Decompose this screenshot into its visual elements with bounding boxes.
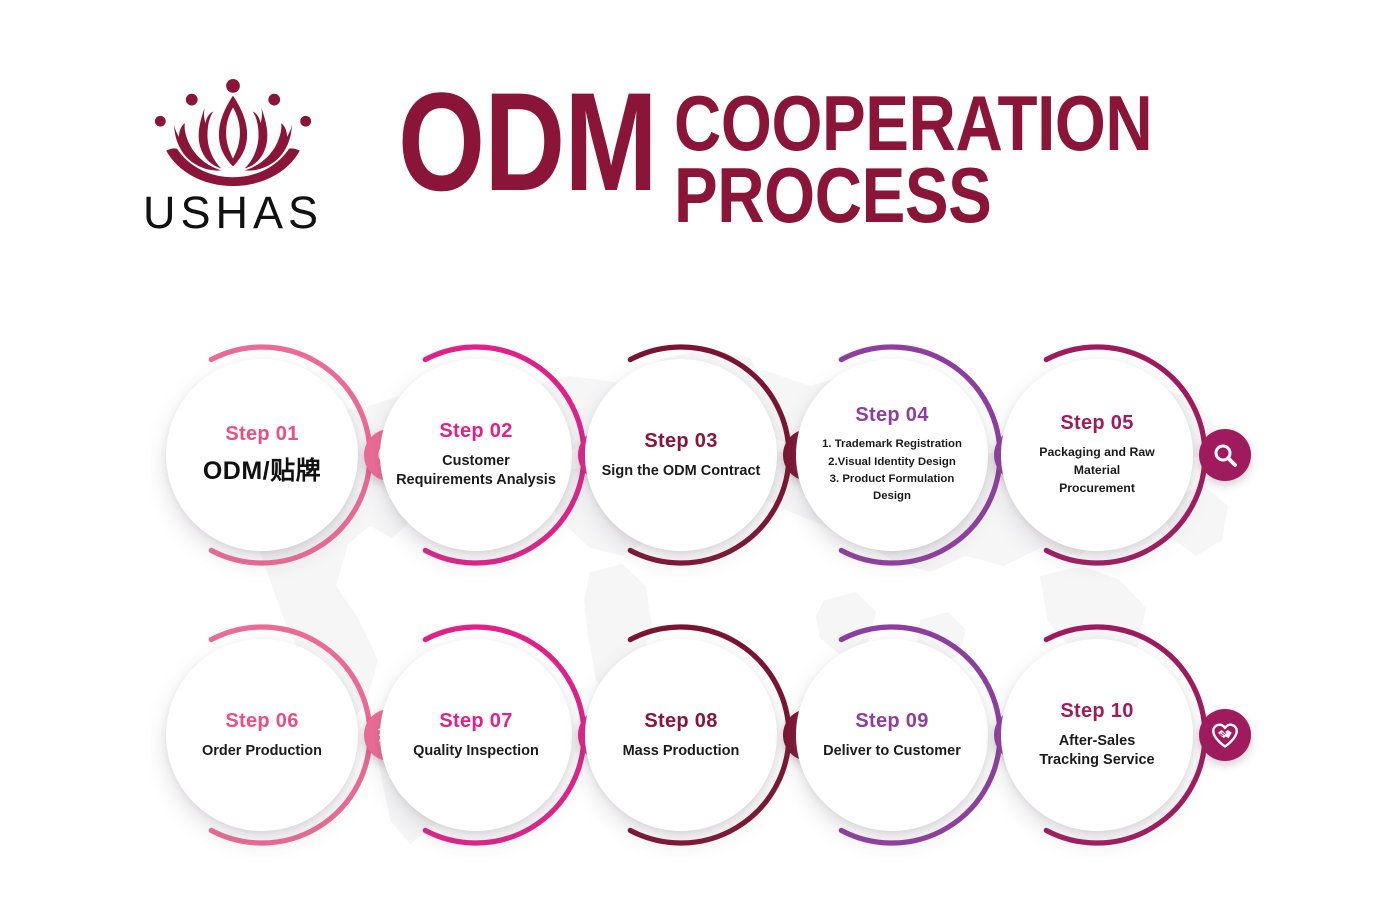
step-description: 1. Trademark Registration2.Visual Identi… bbox=[810, 436, 974, 505]
step-label: Step 06 bbox=[225, 710, 298, 733]
step-label: Step 10 bbox=[1060, 700, 1133, 723]
step-desc-line: Mass Production bbox=[623, 742, 740, 761]
step-bubble[interactable]: Step 09Deliver to Customer bbox=[796, 639, 988, 831]
step-desc-line: Requirements Analysis bbox=[396, 471, 556, 490]
process-step-5[interactable]: Step 05Packaging and Raw MaterialProcure… bbox=[985, 330, 1275, 580]
step-label: Step 09 bbox=[855, 710, 928, 733]
step-label: Step 07 bbox=[439, 710, 512, 733]
step-desc-line: 3. Product Formulation Design bbox=[810, 471, 974, 506]
step-desc-line: Packaging and Raw Material bbox=[1015, 444, 1179, 480]
step-desc-line: Deliver to Customer bbox=[823, 742, 961, 761]
step-bubble[interactable]: Step 06Order Production bbox=[166, 639, 358, 831]
step-bubble[interactable]: Step 03Sign the ODM Contract bbox=[585, 359, 777, 551]
process-steps: Step 01ODM/贴牌Step 02CustomerRequirements… bbox=[0, 0, 1400, 909]
step-desc-line: 2.Visual Identity Design bbox=[810, 454, 974, 471]
step-bubble[interactable]: Step 02CustomerRequirements Analysis bbox=[380, 359, 572, 551]
step-label: Step 02 bbox=[439, 420, 512, 443]
step-desc-line: Sign the ODM Contract bbox=[602, 462, 761, 481]
step-description: Quality Inspection bbox=[413, 742, 539, 761]
step-label: Step 01 bbox=[225, 423, 298, 446]
step-desc-line: Tracking Service bbox=[1039, 751, 1154, 770]
step-desc-line: Quality Inspection bbox=[413, 742, 539, 761]
step-desc-line: 1. Trademark Registration bbox=[810, 436, 974, 453]
step-bubble[interactable]: Step 01ODM/贴牌 bbox=[166, 359, 358, 551]
step-desc-line: Order Production bbox=[202, 742, 322, 761]
step-desc-line: Procurement bbox=[1015, 480, 1179, 498]
step-description: Mass Production bbox=[623, 742, 740, 761]
step-description: Order Production bbox=[202, 742, 322, 761]
step-label: Step 03 bbox=[644, 430, 717, 453]
step-bubble[interactable]: Step 05Packaging and Raw MaterialProcure… bbox=[1001, 359, 1193, 551]
step-description: Packaging and Raw MaterialProcurement bbox=[1015, 444, 1179, 497]
handshake-heart-icon[interactable] bbox=[1199, 709, 1251, 761]
step-desc-line: Customer bbox=[396, 452, 556, 471]
step-bubble[interactable]: Step 08Mass Production bbox=[585, 639, 777, 831]
step-description: CustomerRequirements Analysis bbox=[396, 452, 556, 489]
process-step-10[interactable]: Step 10After-SalesTracking Service bbox=[985, 610, 1275, 860]
step-description: ODM/贴牌 bbox=[203, 455, 321, 487]
step-desc-line: After-Sales bbox=[1039, 732, 1154, 751]
step-bubble[interactable]: Step 07Quality Inspection bbox=[380, 639, 572, 831]
step-label: Step 05 bbox=[1060, 412, 1133, 435]
step-description: After-SalesTracking Service bbox=[1039, 732, 1154, 769]
step-description: Sign the ODM Contract bbox=[602, 462, 761, 481]
step-label: Step 04 bbox=[855, 404, 928, 427]
magnifier-icon[interactable] bbox=[1199, 429, 1251, 481]
step-bubble[interactable]: Step 10After-SalesTracking Service bbox=[1001, 639, 1193, 831]
step-label: Step 08 bbox=[644, 710, 717, 733]
step-bubble[interactable]: Step 041. Trademark Registration2.Visual… bbox=[796, 359, 988, 551]
step-description: Deliver to Customer bbox=[823, 742, 961, 761]
step-desc-line: ODM/贴牌 bbox=[203, 455, 321, 487]
